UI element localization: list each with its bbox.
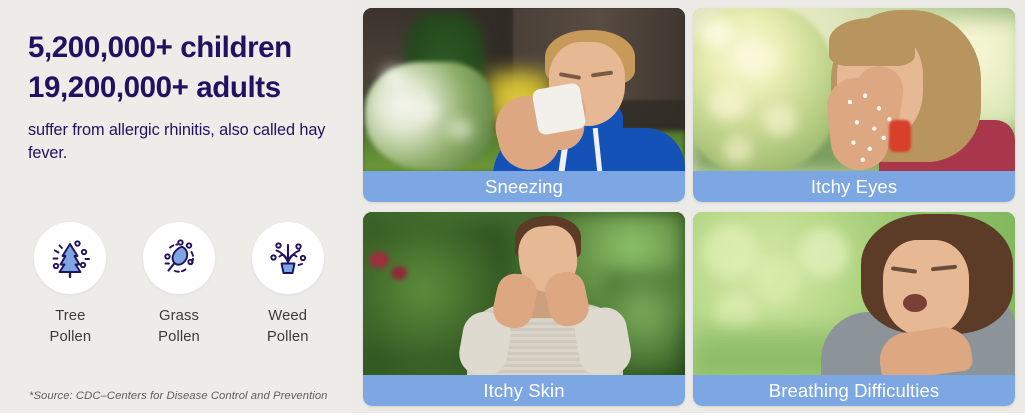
allergy-infographic: 5,200,000+ children 19,200,000+ adults s… [0, 0, 1025, 420]
photo-bokeh [703, 224, 757, 278]
photo-blossom [763, 104, 797, 136]
photo-blossom-cluster [447, 118, 473, 140]
photo-blossom [723, 136, 753, 164]
photo-blossom-cluster [381, 66, 405, 86]
symptom-card-sneezing[interactable]: Sneezing [363, 8, 685, 202]
pollen-label-grass: Grass Pollen [158, 306, 200, 348]
symptom-caption-itchy-skin: Itchy Skin [363, 375, 685, 406]
bottom-edge [0, 413, 1025, 420]
grass-pollen-icon [143, 222, 215, 294]
pine-tree-pollen-icon [34, 222, 106, 294]
symptom-caption-itchy-eyes: Itchy Eyes [693, 171, 1015, 202]
symptom-photo-itchy-eyes [693, 8, 1015, 171]
photo-blossom [737, 42, 777, 76]
pollen-label-weed: Weed Pollen [267, 306, 309, 348]
symptom-caption-sneezing: Sneezing [363, 171, 685, 202]
pollen-label-weed-line2: Pollen [267, 329, 309, 345]
stat-line-adults: 19,200,000+ adults [28, 68, 350, 108]
pollen-label-tree: Tree Pollen [49, 306, 91, 348]
photo-woman-mouth [903, 294, 927, 312]
photo-bokeh [755, 258, 801, 304]
photo-girl-bangs [829, 18, 915, 66]
photo-blossom-cluster [409, 98, 439, 122]
photo-red-detail [889, 120, 911, 152]
stat-line-children: 5,200,000+ children [28, 28, 350, 68]
pollen-types-row: Tree Pollen [16, 222, 342, 348]
pollen-item-weed: Weed Pollen [233, 222, 342, 348]
pollen-label-weed-line1: Weed [268, 308, 307, 324]
symptom-photo-breathing [693, 212, 1015, 375]
symptom-photo-sneezing [363, 8, 685, 171]
symptom-card-itchy-skin[interactable]: Itchy Skin [363, 212, 685, 406]
photo-blossom [699, 18, 733, 48]
photo-berries [369, 252, 389, 268]
headline-block: 5,200,000+ children 19,200,000+ adults s… [28, 28, 350, 164]
symptom-card-breathing[interactable]: Breathing Difficulties [693, 212, 1015, 406]
photo-berries [391, 266, 407, 280]
pollen-label-grass-line2: Pollen [158, 329, 200, 345]
photo-woman-face [883, 240, 969, 336]
symptom-caption-breathing: Breathing Difficulties [693, 375, 1015, 406]
pollen-label-tree-line1: Tree [55, 308, 85, 324]
source-footnote: *Source: CDC–Centers for Disease Control… [29, 390, 328, 402]
weed-plant-pollen-icon [252, 222, 324, 294]
stats-panel: 5,200,000+ children 19,200,000+ adults s… [0, 0, 352, 420]
pollen-label-grass-line1: Grass [159, 308, 199, 324]
photo-bokeh [799, 228, 849, 278]
symptom-photo-itchy-skin [363, 212, 685, 375]
photo-blossom [709, 86, 747, 120]
pollen-item-grass: Grass Pollen [125, 222, 234, 348]
pollen-item-tree: Tree Pollen [16, 222, 125, 348]
photo-tissue [531, 82, 586, 136]
pollen-label-tree-line2: Pollen [49, 329, 91, 345]
symptom-card-itchy-eyes[interactable]: Itchy Eyes [693, 8, 1015, 202]
symptom-cards-grid: Sneezing [363, 8, 1015, 408]
stat-description: suffer from allergic rhinitis, also call… [28, 119, 328, 164]
